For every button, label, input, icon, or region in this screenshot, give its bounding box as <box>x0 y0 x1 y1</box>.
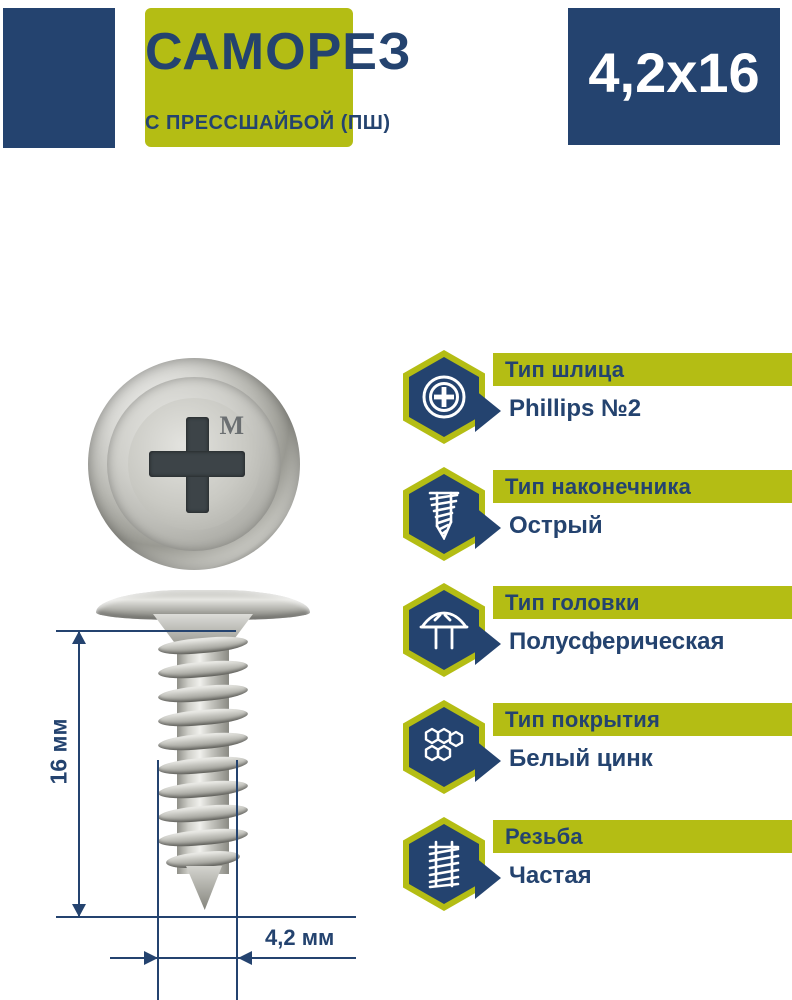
feature-row-thread-type: Резьба Частая <box>395 812 792 929</box>
feature-arrow-icon <box>475 740 501 782</box>
product-size-label: 4,2х16 <box>568 40 780 105</box>
feature-row-coating-type: Тип покрытия Белый цинк <box>395 695 792 812</box>
molecule-icon <box>409 707 479 787</box>
feature-arrow-icon <box>475 623 501 665</box>
feature-arrow-icon <box>475 507 501 549</box>
screw-tip-icon <box>409 474 479 554</box>
header-banner: САМОРЕЗ С ПРЕССШАЙБОЙ (ПШ) 4,2х16 <box>0 0 792 160</box>
header-title-block: САМОРЕЗ С ПРЕССШАЙБОЙ (ПШ) <box>145 8 353 147</box>
header-size-block: 4,2х16 <box>568 8 780 145</box>
diameter-arrow-left-icon <box>144 951 158 965</box>
feature-title: Тип наконечника <box>505 474 691 500</box>
diameter-arrow-right-icon <box>238 951 252 965</box>
phillips-drive-icon <box>409 357 479 437</box>
screw-point-tip <box>186 866 222 910</box>
feature-value: Частая <box>509 862 592 890</box>
feature-value: Полусферическая <box>509 628 724 656</box>
length-arrow-bottom-icon <box>72 904 86 917</box>
feature-row-tip-type: Тип наконечника Острый <box>395 462 792 579</box>
feature-row-drive-type: Тип шлица Phillips №2 <box>395 345 792 462</box>
feature-icon-badge <box>403 817 485 911</box>
feature-value: Белый цинк <box>509 745 653 773</box>
screw-side-view <box>88 590 318 920</box>
feature-row-head-type: Тип головки Полусферическая <box>395 578 792 695</box>
page-subtitle: С ПРЕССШАЙБОЙ (ПШ) <box>145 112 353 135</box>
feature-value: Острый <box>509 512 603 540</box>
thread-icon <box>409 824 479 904</box>
feature-title: Тип головки <box>505 590 640 616</box>
diameter-dimension-label: 4,2 мм <box>265 925 334 951</box>
header-left-block <box>3 8 115 148</box>
length-dimension-label: 16 мм <box>46 718 73 784</box>
dimension-extension-line-bottom <box>56 916 356 918</box>
feature-icon-badge <box>403 467 485 561</box>
feature-icon-badge <box>403 700 485 794</box>
page-title: САМОРЕЗ <box>145 24 353 80</box>
feature-icon-badge <box>403 583 485 677</box>
feature-title: Тип шлица <box>505 357 624 383</box>
length-arrow-top-icon <box>72 631 86 644</box>
feature-title-bar: Резьба <box>493 820 792 853</box>
head-marking: M <box>219 411 244 441</box>
feature-value: Phillips №2 <box>509 395 641 423</box>
feature-title-bar: Тип головки <box>493 586 792 619</box>
feature-title-bar: Тип шлица <box>493 353 792 386</box>
length-dimension-line <box>78 631 80 917</box>
product-illustration: M 16 мм 4,2 мм <box>0 340 395 1000</box>
feature-title-bar: Тип наконечника <box>493 470 792 503</box>
feature-title-bar: Тип покрытия <box>493 703 792 736</box>
phillips-slot-horizontal <box>149 451 244 476</box>
feature-arrow-icon <box>475 857 501 899</box>
feature-arrow-icon <box>475 390 501 432</box>
feature-specification-list: Тип шлица Phillips №2 <box>395 345 792 965</box>
feature-title: Резьба <box>505 824 583 850</box>
feature-icon-badge <box>403 350 485 444</box>
screw-head-icon <box>409 590 479 670</box>
screw-head-top-view: M <box>88 358 300 570</box>
feature-title: Тип покрытия <box>505 707 660 733</box>
